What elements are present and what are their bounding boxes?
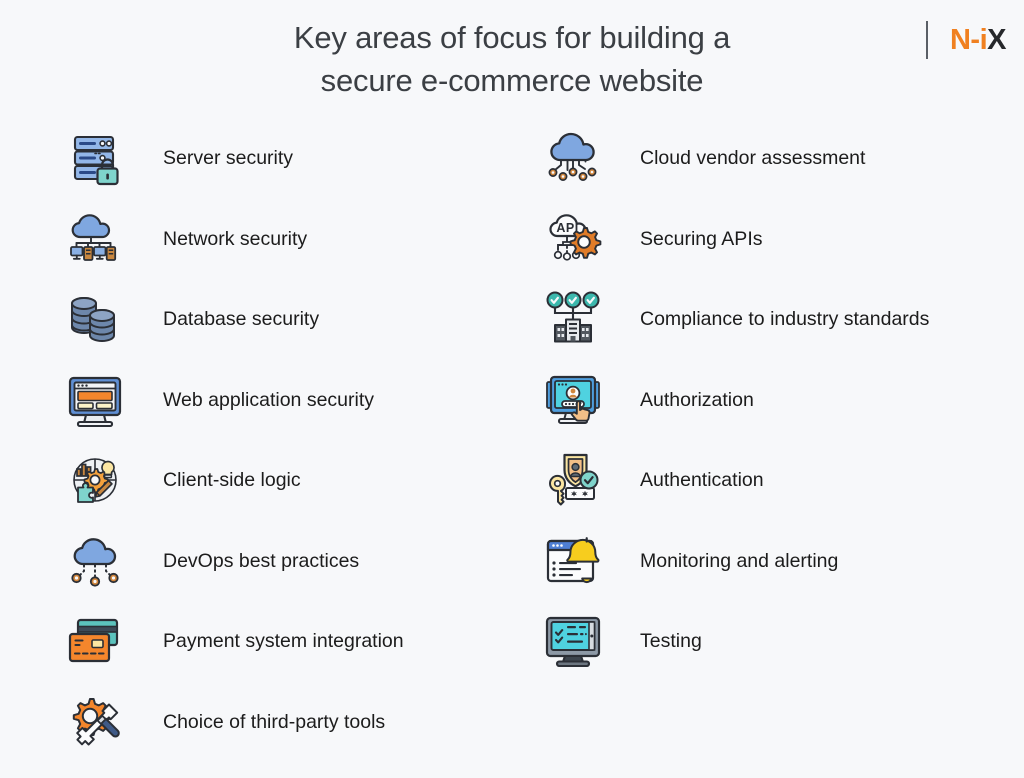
monitor-browser-icon <box>56 363 134 437</box>
checkmarks-building-icon <box>534 282 612 356</box>
list-item: Payment system integration <box>56 601 526 682</box>
list-item: API <box>534 199 1014 280</box>
logo-text: N-iX <box>950 26 1006 55</box>
list-item-label: Web application security <box>134 388 374 412</box>
right-column: Cloud vendor assessment API <box>534 118 1014 682</box>
list-item-label: Cloud vendor assessment <box>612 146 865 170</box>
list-item: Authentication <box>534 440 1014 521</box>
page-title-line-2: secure e-commerce website <box>150 59 874 102</box>
browser-bell-icon <box>534 524 612 598</box>
cloud-circuit-icon <box>534 121 612 195</box>
page-title: Key areas of focus for building a secure… <box>150 16 874 102</box>
logo-text-primary: N-i <box>950 24 987 56</box>
header: Key areas of focus for building a secure… <box>0 0 1024 112</box>
brand-logo: N-iX <box>926 20 1006 60</box>
credit-cards-icon <box>56 604 134 678</box>
list-item-label: Authorization <box>612 388 754 412</box>
cloud-gear-nodes-icon <box>56 524 134 598</box>
list-item-label: Monitoring and alerting <box>612 549 838 573</box>
infographic-page: Key areas of focus for building a secure… <box>0 0 1024 778</box>
cloud-network-icon <box>56 202 134 276</box>
list-item: Web application security <box>56 360 526 441</box>
list-item: Monitoring and alerting <box>534 521 1014 602</box>
list-item-label: Compliance to industry standards <box>612 307 929 331</box>
logo-divider <box>926 21 928 59</box>
list-item: DevOps best practices <box>56 521 526 602</box>
page-title-line-1: Key areas of focus for building a <box>150 16 874 59</box>
logo-text-secondary: X <box>987 24 1006 56</box>
list-item-label: Choice of third-party tools <box>134 710 385 734</box>
database-stack-icon <box>56 282 134 356</box>
list-item: Choice of third-party tools <box>56 682 526 763</box>
list-item-label: Network security <box>134 227 307 251</box>
api-cloud-gear-icon: API <box>534 202 612 276</box>
gear-wrench-screwdriver-icon <box>56 685 134 759</box>
list-item-label: Client-side logic <box>134 468 301 492</box>
list-item: Database security <box>56 279 526 360</box>
monitor-checklist-icon <box>534 604 612 678</box>
server-lock-icon <box>56 121 134 195</box>
list-item: Server security <box>56 118 526 199</box>
left-column: Server security <box>56 118 526 762</box>
list-item: Testing <box>534 601 1014 682</box>
list-item: Network security <box>56 199 526 280</box>
list-item-label: Server security <box>134 146 293 170</box>
login-screen-cursor-icon <box>534 363 612 437</box>
list-item-label: Payment system integration <box>134 629 404 653</box>
list-item-label: DevOps best practices <box>134 549 359 573</box>
gear-chart-bulb-icon <box>56 443 134 517</box>
list-item-label: Authentication <box>612 468 764 492</box>
list-item: Compliance to industry standards <box>534 279 1014 360</box>
list-item: Cloud vendor assessment <box>534 118 1014 199</box>
list-item-label: Securing APIs <box>612 227 762 251</box>
focus-areas-list: Server security <box>0 118 1024 778</box>
shield-key-password-icon <box>534 443 612 517</box>
list-item: Client-side logic <box>56 440 526 521</box>
list-item-label: Testing <box>612 629 702 653</box>
list-item-label: Database security <box>134 307 319 331</box>
list-item: Authorization <box>534 360 1014 441</box>
